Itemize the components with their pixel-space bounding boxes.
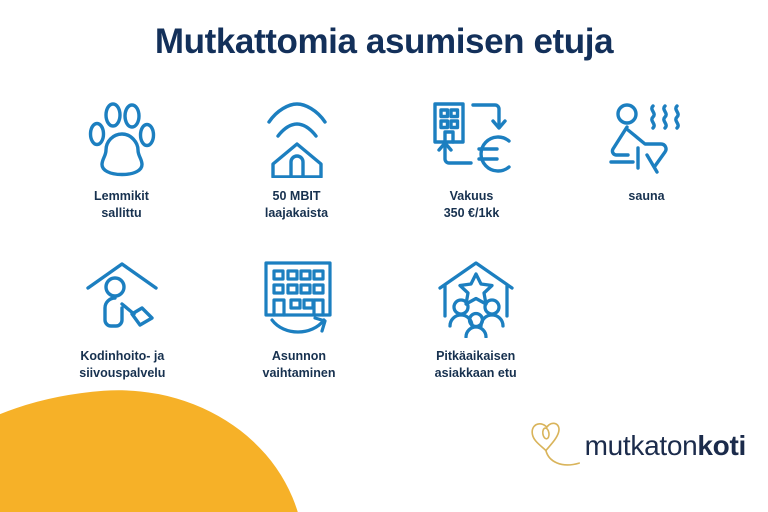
benefit-item-sauna: sauna (559, 98, 734, 221)
cleaning-person-roof-icon (82, 258, 162, 340)
brand-logo[interactable]: mutkatonkoti (527, 418, 746, 474)
logo-text-light: mutkaton (585, 430, 698, 461)
paw-print-icon (87, 98, 157, 180)
benefit-item-broadband: 50 MBIT laajakaista (209, 98, 384, 221)
benefit-label: 50 MBIT laajakaista (265, 188, 328, 221)
benefit-label: Pitkäaikaisen asiakkaan etu (435, 348, 517, 381)
building-euro-exchange-icon (429, 98, 515, 180)
benefit-row-top: Lemmikit sallittu 50 MBIT laajakaista (34, 98, 734, 221)
benefit-label: Kodinhoito- ja siivouspalvelu (79, 348, 165, 381)
benefit-item-pets: Lemmikit sallittu (34, 98, 209, 221)
decorative-yellow-blob (0, 378, 307, 512)
heart-swoosh-icon (527, 418, 581, 474)
benefit-label: Lemmikit sallittu (94, 188, 149, 221)
page-title: Mutkattomia asumisen etuja (0, 22, 768, 62)
benefit-label: sauna (628, 188, 664, 205)
infographic-canvas: Mutkattomia asumisen etuja Lemmikit sall… (0, 0, 768, 512)
benefit-label: Vakuus 350 €/1kk (444, 188, 500, 221)
apartment-swap-arrow-icon (258, 258, 340, 340)
benefit-item-apartment-swap: Asunnon vaihtaminen (211, 258, 388, 381)
logo-text-bold: koti (697, 430, 746, 461)
logo-wordmark: mutkatonkoti (585, 430, 746, 462)
benefit-item-loyalty: Pitkäaikaisen asiakkaan etu (387, 258, 564, 381)
house-star-family-icon (435, 258, 517, 340)
benefit-item-deposit: Vakuus 350 €/1kk (384, 98, 559, 221)
wifi-house-icon (261, 98, 333, 180)
benefit-item-cleaning: Kodinhoito- ja siivouspalvelu (34, 258, 211, 381)
benefit-row-bottom: Kodinhoito- ja siivouspalvelu (34, 258, 564, 381)
benefit-label: Asunnon vaihtaminen (263, 348, 336, 381)
sauna-person-steam-icon (607, 98, 687, 180)
